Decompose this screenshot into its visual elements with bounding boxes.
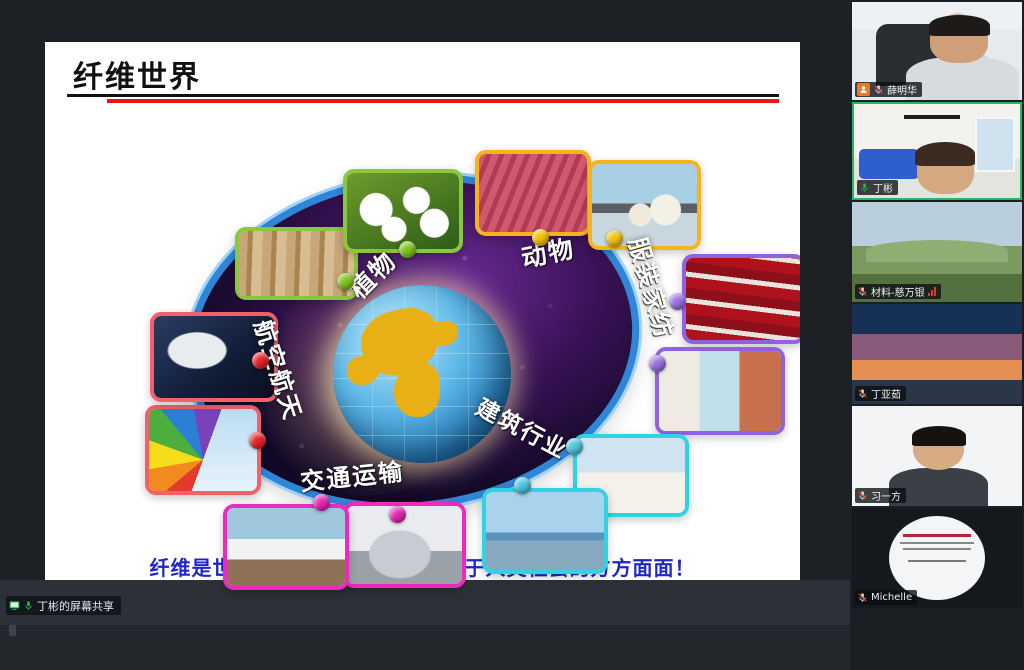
host-icon <box>857 83 870 96</box>
microphone-muted-icon <box>857 592 868 603</box>
participant-namebar-3: 材料-慈万银 <box>855 284 941 299</box>
participant-name-1: 薛明华 <box>887 82 917 97</box>
title-rule-red <box>107 99 779 103</box>
bedding-photo <box>682 254 800 344</box>
participant-tile-6[interactable]: Michelle <box>852 508 1022 608</box>
connector-node-animal-1 <box>532 229 549 246</box>
participant-name-2: 丁彬 <box>873 180 893 195</box>
participant-namebar-2: 丁彬 <box>857 180 898 195</box>
microphone-muted-icon <box>857 286 868 297</box>
meeting-window: 纤维世界 <box>0 0 1024 670</box>
connector-node-animal-2 <box>606 230 623 247</box>
microphone-icon <box>859 182 870 193</box>
train-photo <box>223 504 349 590</box>
participant-tile-3[interactable]: 材料-慈万银 <box>852 202 1022 302</box>
cotton-photo <box>343 169 463 253</box>
title-rule-black <box>67 94 779 97</box>
participant-namebar-6: Michelle <box>855 590 917 605</box>
microphone-icon <box>23 600 34 611</box>
participant-name-4: 丁亚茹 <box>871 386 901 401</box>
participant-tile-4[interactable]: 丁亚茹 <box>852 304 1022 404</box>
participant-tile-2[interactable]: 丁彬 <box>852 102 1022 200</box>
participant-namebar-4: 丁亚茹 <box>855 386 906 401</box>
wood-photo <box>235 227 358 300</box>
connector-node-construction-2 <box>514 477 531 494</box>
connector-node-apparel-1 <box>669 293 686 310</box>
participant-namebar-1: 薛明华 <box>855 82 922 97</box>
participant-name-5: 习一方 <box>871 488 901 503</box>
microphone-muted-icon <box>857 388 868 399</box>
connector-node-transport-2 <box>313 494 330 511</box>
participant-name-6: Michelle <box>871 592 912 603</box>
connector-node-apparel-2 <box>649 355 666 372</box>
parachute-photo <box>145 405 261 495</box>
connector-node-plant-2 <box>399 241 416 258</box>
fashion-photo <box>655 347 785 435</box>
participant-namebar-5: 习一方 <box>855 488 906 503</box>
connector-node-plant-1 <box>337 273 354 290</box>
connector-node-transport-1 <box>389 506 406 523</box>
muscle-photo <box>475 150 591 236</box>
shared-screen-stage[interactable]: 纤维世界 <box>0 0 850 625</box>
microphone-muted-icon <box>857 490 868 501</box>
city-skyline-photo <box>482 488 608 574</box>
microphone-muted-icon <box>873 84 884 95</box>
participant-strip[interactable]: 薛明华 丁彬 <box>850 0 1024 670</box>
globe-graphic <box>333 285 511 463</box>
participant-tile-5[interactable]: 习一方 <box>852 406 1022 506</box>
signal-strength-icon <box>928 287 936 296</box>
connector-node-aerospace-1 <box>249 432 266 449</box>
monitor-icon <box>9 600 20 611</box>
screen-share-indicator[interactable]: 丁彬的屏幕共享 <box>6 596 121 615</box>
slide-title: 纤维世界 <box>73 52 201 96</box>
presentation-slide: 纤维世界 <box>45 42 800 610</box>
participant-name-3: 材料-慈万银 <box>871 284 925 299</box>
participant-tile-1[interactable]: 薛明华 <box>852 2 1022 100</box>
connector-node-aerospace-2 <box>252 352 269 369</box>
share-label: 丁彬的屏幕共享 <box>37 598 114 614</box>
connector-node-construction-1 <box>566 438 583 455</box>
